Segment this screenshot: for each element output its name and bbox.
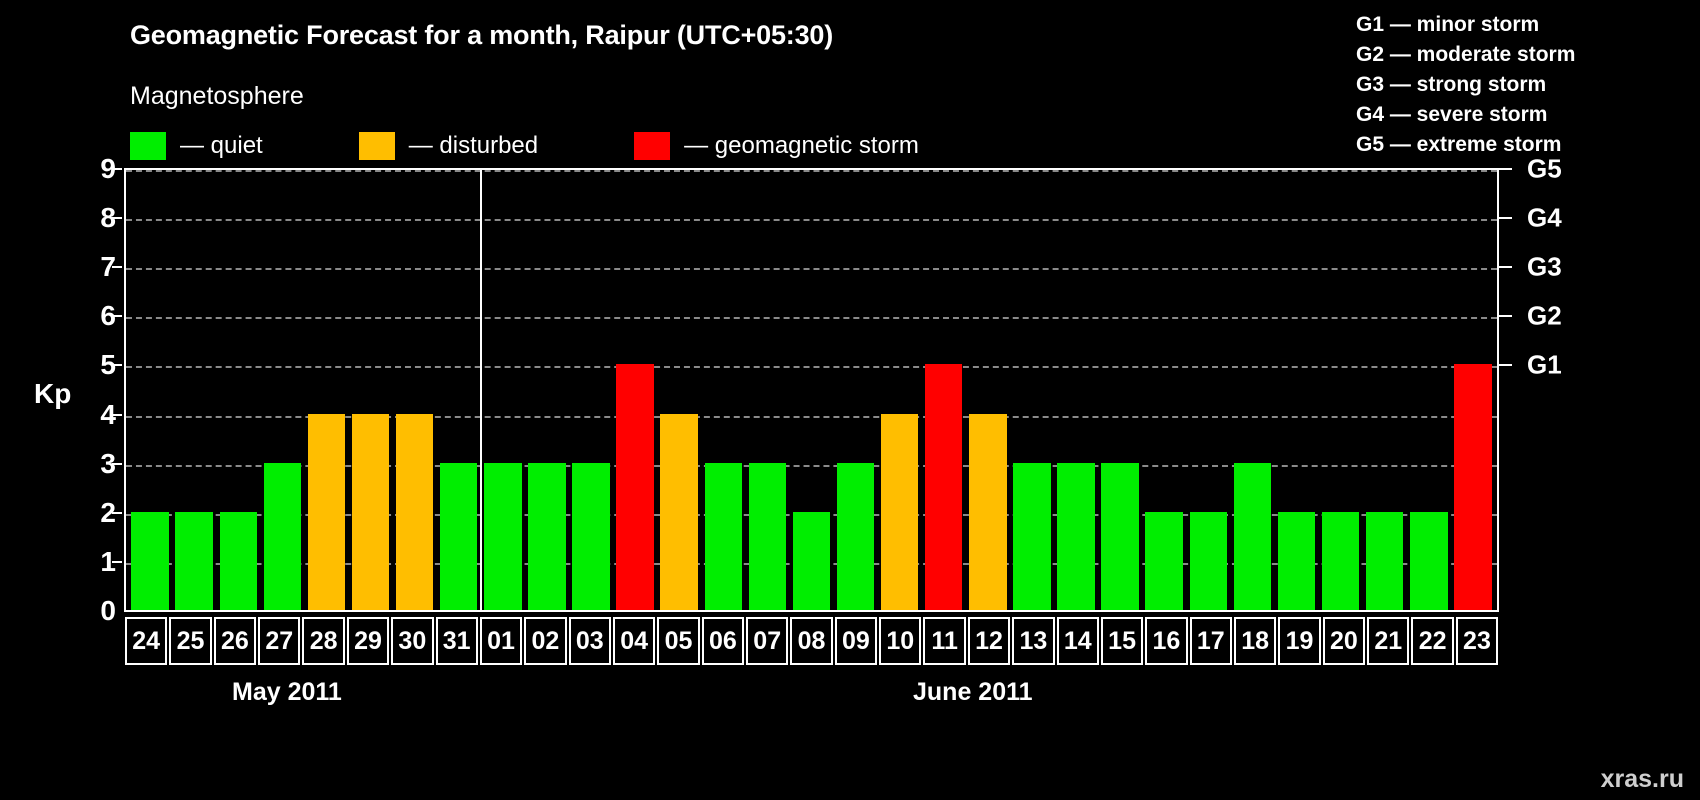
day-label-10[interactable]: 10 [879, 617, 921, 665]
day-label-15[interactable]: 15 [1101, 617, 1143, 665]
day-label-03[interactable]: 03 [569, 617, 611, 665]
bar-cell-06[interactable] [701, 172, 745, 610]
bar-cell-25[interactable] [172, 172, 216, 610]
bar-cell-20[interactable] [1319, 172, 1363, 610]
chart-plot-area [124, 168, 1499, 612]
y-tick-label-7: 7 [76, 251, 116, 283]
bar-03[interactable] [572, 463, 609, 610]
bar-cell-30[interactable] [393, 172, 437, 610]
bar-19[interactable] [1278, 512, 1315, 610]
bars-layer [128, 172, 1495, 610]
bar-15[interactable] [1101, 463, 1138, 610]
bar-cell-13[interactable] [1010, 172, 1054, 610]
y-tick-mark-5 [112, 364, 122, 366]
day-label-30[interactable]: 30 [391, 617, 433, 665]
g-axis-label-g4: G4 [1527, 203, 1562, 234]
y-tick-mark-4 [112, 414, 122, 416]
bar-cell-24[interactable] [128, 172, 172, 610]
watermark: xras.ru [1601, 765, 1684, 794]
day-label-11[interactable]: 11 [923, 617, 965, 665]
bar-01[interactable] [484, 463, 521, 610]
bar-04[interactable] [616, 364, 653, 610]
month-caption-may: May 2011 [232, 678, 342, 707]
bar-17[interactable] [1190, 512, 1227, 610]
g-axis-tick-mark-g3 [1499, 266, 1512, 268]
bar-09[interactable] [837, 463, 874, 610]
day-label-13[interactable]: 13 [1012, 617, 1054, 665]
bar-24[interactable] [131, 512, 168, 610]
legend-entry-storm: — geomagnetic storm [634, 132, 919, 160]
g-axis-label-g1: G1 [1527, 350, 1562, 381]
day-label-04[interactable]: 04 [613, 617, 655, 665]
bar-07[interactable] [749, 463, 786, 610]
bar-cell-19[interactable] [1274, 172, 1318, 610]
bar-cell-02[interactable] [525, 172, 569, 610]
bar-cell-16[interactable] [1142, 172, 1186, 610]
legend-label: — quiet [180, 132, 263, 160]
y-tick-mark-9 [112, 168, 122, 170]
y-tick-mark-1 [112, 561, 122, 563]
bar-06[interactable] [705, 463, 742, 610]
day-label-08[interactable]: 08 [790, 617, 832, 665]
y-tick-label-9: 9 [76, 153, 116, 185]
day-label-strip: 2425262728293031010203040506070809101112… [124, 617, 1499, 665]
bar-cell-05[interactable] [657, 172, 701, 610]
color-legend: — quiet— disturbed— geomagnetic storm [130, 130, 919, 162]
day-label-22[interactable]: 22 [1411, 617, 1453, 665]
day-label-25[interactable]: 25 [169, 617, 211, 665]
day-label-01[interactable]: 01 [480, 617, 522, 665]
day-label-02[interactable]: 02 [524, 617, 566, 665]
day-label-06[interactable]: 06 [702, 617, 744, 665]
bar-10[interactable] [881, 414, 918, 610]
bar-12[interactable] [969, 414, 1006, 610]
bar-21[interactable] [1366, 512, 1403, 610]
bar-23[interactable] [1454, 364, 1491, 610]
y-tick-mark-6 [112, 315, 122, 317]
bar-cell-09[interactable] [834, 172, 878, 610]
bar-22[interactable] [1410, 512, 1447, 610]
y-tick-label-2: 2 [76, 497, 116, 529]
y-tick-mark-8 [112, 217, 122, 219]
day-label-24[interactable]: 24 [125, 617, 167, 665]
bar-02[interactable] [528, 463, 565, 610]
month-divider-line [480, 170, 482, 610]
legend-label: — geomagnetic storm [684, 132, 919, 160]
day-label-18[interactable]: 18 [1234, 617, 1276, 665]
y-tick-mark-2 [112, 512, 122, 514]
bar-cell-18[interactable] [1230, 172, 1274, 610]
y-tick-mark-3 [112, 463, 122, 465]
g-scale-row-3: G3 — strong storm [1356, 70, 1686, 100]
bar-cell-22[interactable] [1407, 172, 1451, 610]
day-label-21[interactable]: 21 [1367, 617, 1409, 665]
bar-cell-17[interactable] [1186, 172, 1230, 610]
bar-cell-07[interactable] [745, 172, 789, 610]
day-label-14[interactable]: 14 [1057, 617, 1099, 665]
day-label-31[interactable]: 31 [436, 617, 478, 665]
orange-square-swatch [359, 132, 395, 160]
day-label-19[interactable]: 19 [1278, 617, 1320, 665]
section-label-magnetosphere: Magnetosphere [130, 82, 304, 111]
bar-28[interactable] [308, 414, 345, 610]
legend-label: — disturbed [409, 132, 538, 160]
day-label-20[interactable]: 20 [1323, 617, 1365, 665]
bar-05[interactable] [660, 414, 697, 610]
bar-11[interactable] [925, 364, 962, 610]
legend-entry-disturbed: — disturbed [359, 132, 538, 160]
y-tick-label-3: 3 [76, 448, 116, 480]
bar-27[interactable] [264, 463, 301, 610]
day-label-07[interactable]: 07 [746, 617, 788, 665]
y-axis-tick-labels: 9876543210 [64, 168, 116, 612]
page-title: Geomagnetic Forecast for a month, Raipur… [130, 20, 833, 51]
g-axis-tick-mark-g4 [1499, 217, 1512, 219]
bar-cell-31[interactable] [437, 172, 481, 610]
month-caption-june: June 2011 [913, 678, 1033, 707]
bar-20[interactable] [1322, 512, 1359, 610]
bar-cell-12[interactable] [966, 172, 1010, 610]
day-label-05[interactable]: 05 [657, 617, 699, 665]
bar-cell-01[interactable] [481, 172, 525, 610]
day-label-29[interactable]: 29 [347, 617, 389, 665]
y-tick-label-5: 5 [76, 349, 116, 381]
bar-31[interactable] [440, 463, 477, 610]
legend-entry-quiet: — quiet [130, 132, 263, 160]
bar-cell-29[interactable] [348, 172, 392, 610]
g-scale-legend: G1 — minor stormG2 — moderate stormG3 — … [1356, 10, 1686, 160]
day-label-28[interactable]: 28 [302, 617, 344, 665]
bar-13[interactable] [1013, 463, 1050, 610]
bar-cell-15[interactable] [1098, 172, 1142, 610]
y-tick-label-4: 4 [76, 399, 116, 431]
bar-08[interactable] [793, 512, 830, 610]
green-square-swatch [130, 132, 166, 160]
g-axis-label-g2: G2 [1527, 301, 1562, 332]
y-tick-label-1: 1 [76, 546, 116, 578]
day-label-23[interactable]: 23 [1456, 617, 1498, 665]
g-scale-row-5: G5 — extreme storm [1356, 130, 1686, 160]
bar-26[interactable] [220, 512, 257, 610]
bar-cell-14[interactable] [1054, 172, 1098, 610]
y-tick-label-0: 0 [76, 595, 116, 627]
day-label-17[interactable]: 17 [1190, 617, 1232, 665]
bar-25[interactable] [175, 512, 212, 610]
g-axis-tick-mark-g5 [1499, 168, 1512, 170]
g-axis-label-g3: G3 [1527, 252, 1562, 283]
day-label-16[interactable]: 16 [1145, 617, 1187, 665]
day-label-09[interactable]: 09 [835, 617, 877, 665]
bar-cell-11[interactable] [922, 172, 966, 610]
bar-cell-27[interactable] [260, 172, 304, 610]
chart-plot-wrapper [124, 168, 1499, 612]
g-axis-tick-mark-g2 [1499, 315, 1512, 317]
bar-30[interactable] [396, 414, 433, 610]
bar-cell-23[interactable] [1451, 172, 1495, 610]
bar-cell-10[interactable] [878, 172, 922, 610]
bar-18[interactable] [1234, 463, 1271, 610]
g-axis: G5G4G3G2G1 [1499, 168, 1689, 612]
bar-cell-28[interactable] [304, 172, 348, 610]
g-scale-row-1: G1 — minor storm [1356, 10, 1686, 40]
y-tick-label-6: 6 [76, 300, 116, 332]
red-square-swatch [634, 132, 670, 160]
day-label-26[interactable]: 26 [214, 617, 256, 665]
bar-cell-04[interactable] [613, 172, 657, 610]
bar-cell-26[interactable] [216, 172, 260, 610]
bar-14[interactable] [1057, 463, 1094, 610]
bar-cell-03[interactable] [569, 172, 613, 610]
day-label-12[interactable]: 12 [968, 617, 1010, 665]
g-axis-label-g5: G5 [1527, 154, 1562, 185]
bar-16[interactable] [1145, 512, 1182, 610]
g-scale-row-4: G4 — severe storm [1356, 100, 1686, 130]
g-axis-tick-mark-g1 [1499, 364, 1512, 366]
y-tick-label-8: 8 [76, 202, 116, 234]
g-scale-row-2: G2 — moderate storm [1356, 40, 1686, 70]
bar-cell-08[interactable] [789, 172, 833, 610]
bar-29[interactable] [352, 414, 389, 610]
bar-cell-21[interactable] [1363, 172, 1407, 610]
y-tick-mark-7 [112, 266, 122, 268]
day-label-27[interactable]: 27 [258, 617, 300, 665]
